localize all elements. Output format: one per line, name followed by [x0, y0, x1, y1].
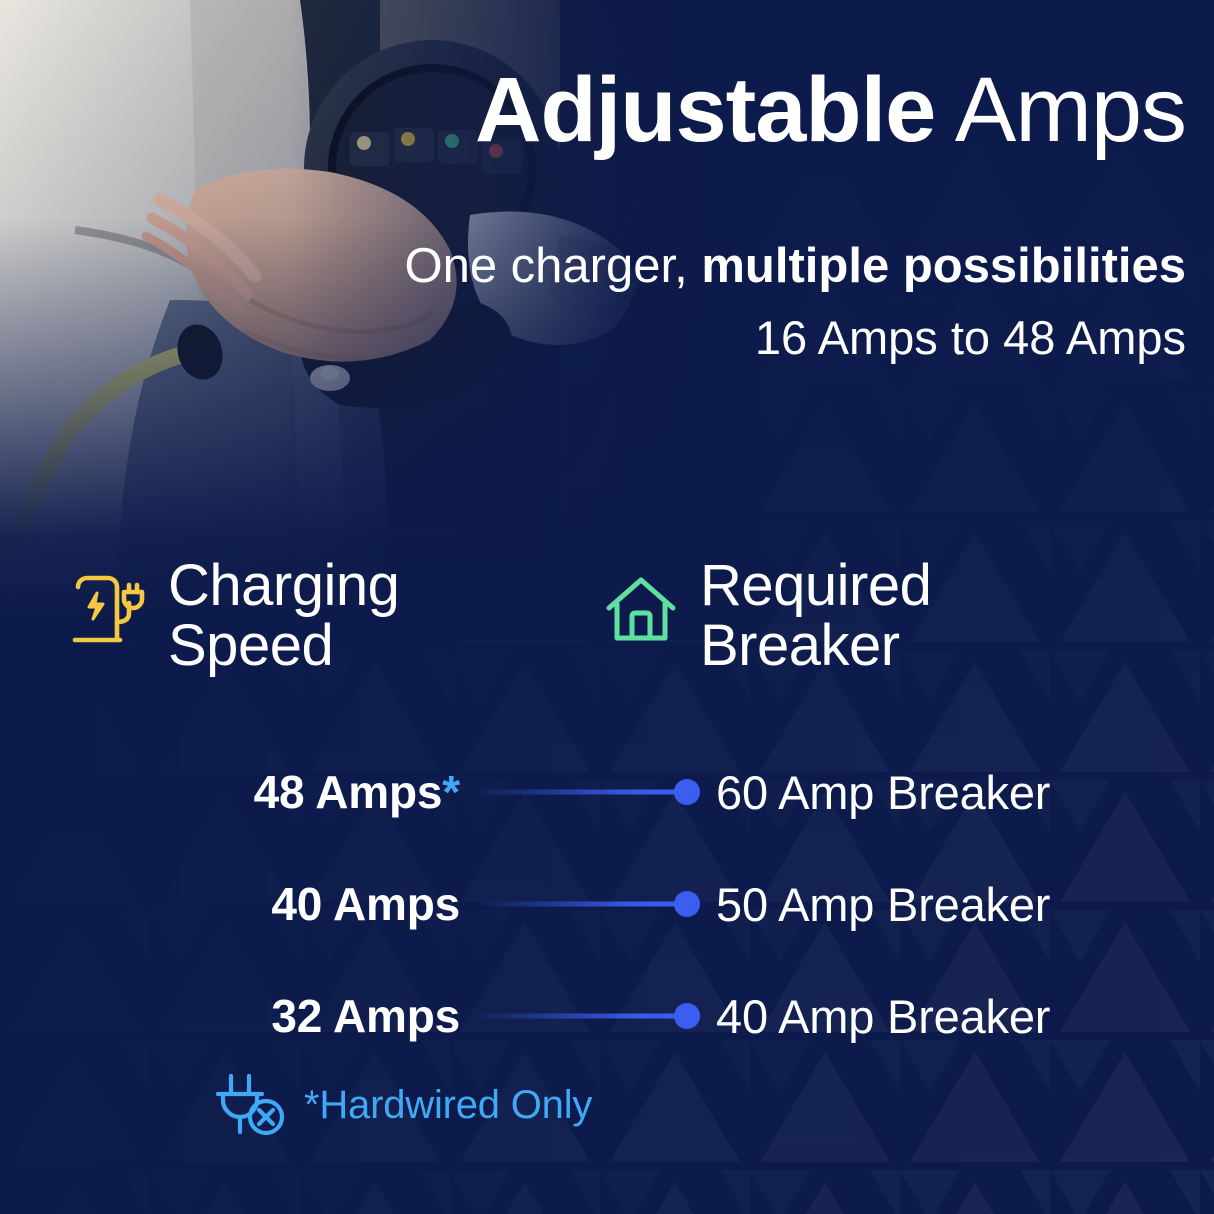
footnote-text: *Hardwired Only [304, 1083, 592, 1128]
column-header-line1: Required [700, 553, 931, 618]
subtitle-light-part: One charger, [404, 239, 701, 293]
row-connector [482, 1004, 704, 1028]
column-header-label: Required Breaker [700, 556, 931, 677]
amps-text: 48 Amps [254, 766, 443, 818]
row-connector [482, 892, 704, 916]
connector-dot [674, 779, 700, 805]
column-header-line2: Breaker [700, 616, 931, 676]
house-icon [604, 570, 678, 646]
adjustable-amps-infographic: Adjustable Amps One charger, multiple po… [0, 0, 1214, 1214]
column-header-line1: Charging [168, 553, 399, 618]
amp-range-line: 16 Amps to 48 Amps [755, 312, 1186, 364]
table-row: 32 Amps 40 Amp Breaker [0, 960, 1214, 1072]
charging-speed-value: 32 Amps [0, 989, 460, 1043]
table-row: 48 Amps* 60 Amp Breaker [0, 736, 1214, 848]
required-breaker-value: 40 Amp Breaker [716, 989, 1050, 1044]
row-connector [482, 780, 704, 804]
connector-line [482, 790, 688, 795]
amps-text: 40 Amps [271, 878, 460, 930]
connector-line [482, 902, 688, 907]
footnote-asterisk: * [442, 766, 460, 818]
column-header-required-breaker: Required Breaker [604, 556, 931, 677]
charging-speed-value: 48 Amps* [0, 765, 460, 819]
column-header-charging-speed: Charging Speed [72, 556, 399, 677]
column-header-label: Charging Speed [168, 556, 399, 677]
ev-charging-station-icon [72, 570, 146, 646]
required-breaker-value: 60 Amp Breaker [716, 765, 1050, 820]
table-row: 40 Amps 50 Amp Breaker [0, 848, 1214, 960]
column-header-line2: Speed [168, 616, 399, 676]
connector-line [482, 1014, 688, 1019]
subtitle-strong-part: multiple possibilities [701, 239, 1186, 293]
page-title: Adjustable Amps [0, 62, 1186, 159]
amps-to-breaker-table: 48 Amps* 60 Amp Breaker 40 Amps 50 Amp B… [0, 736, 1214, 1072]
no-plug-icon [214, 1072, 286, 1138]
hardwired-footnote: *Hardwired Only [214, 1072, 592, 1138]
title-strong: Adjustable [475, 59, 935, 161]
connector-dot [674, 891, 700, 917]
charging-speed-value: 40 Amps [0, 877, 460, 931]
connector-dot [674, 1003, 700, 1029]
required-breaker-value: 50 Amp Breaker [716, 877, 1050, 932]
title-light: Amps [935, 59, 1186, 161]
amps-text: 32 Amps [271, 990, 460, 1042]
subtitle-primary: One charger, multiple possibilities [404, 240, 1186, 294]
